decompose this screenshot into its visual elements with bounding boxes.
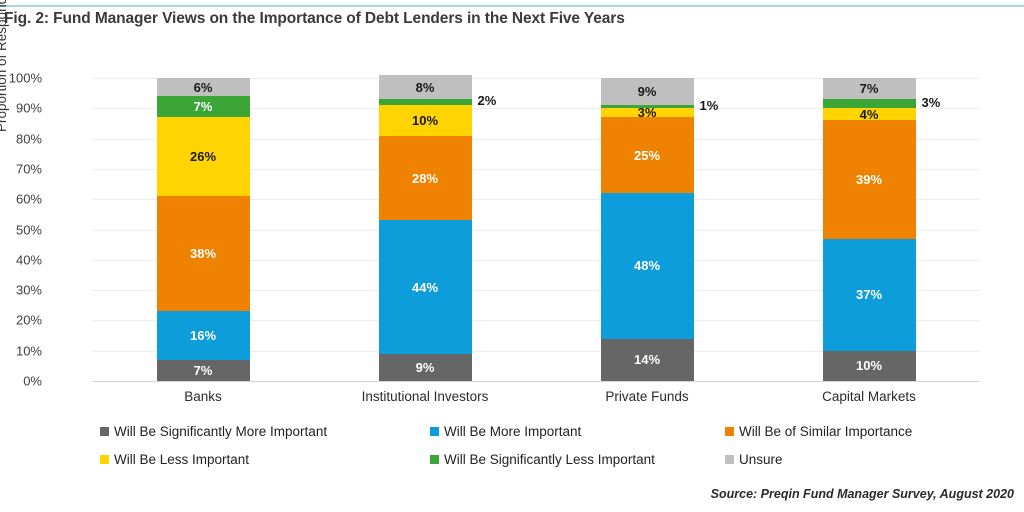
bar-segment[interactable]: 7% (823, 78, 916, 99)
bar-segment-value-label: 10% (856, 358, 882, 373)
y-axis-tick-label: 50% (0, 222, 42, 237)
legend-swatch-icon (725, 455, 734, 464)
bar-segment[interactable]: 44% (379, 220, 472, 353)
y-axis-tick-label: 30% (0, 283, 42, 298)
bar-segment[interactable]: 3% (823, 99, 916, 108)
bar-segment[interactable]: 26% (157, 117, 250, 196)
legend-swatch-icon (430, 455, 439, 464)
legend-item[interactable]: Will Be Significantly More Important (100, 424, 327, 439)
legend-item[interactable]: Will Be Significantly Less Important (430, 452, 655, 467)
bar-segment[interactable]: 7% (157, 96, 250, 117)
bar-segment-value-label: 39% (856, 172, 882, 187)
bar-segment[interactable]: 4% (823, 108, 916, 120)
bar-segment[interactable]: 28% (379, 136, 472, 221)
bar-segment-value-label: 7% (860, 81, 879, 96)
bar-segment[interactable]: 6% (157, 78, 250, 96)
bar-segment[interactable]: 16% (157, 311, 250, 359)
legend-item[interactable]: Will Be of Similar Importance (725, 424, 912, 439)
bar-segment-value-label: 14% (634, 352, 660, 367)
page-title: Fig. 2: Fund Manager Views on the Import… (4, 10, 625, 28)
bar-segment[interactable]: 1% (601, 105, 694, 108)
bar-segment-value-label: 10% (412, 113, 438, 128)
bar-segment[interactable]: 10% (379, 105, 472, 135)
stacked-bar[interactable]: 7%16%38%26%7%6% (157, 78, 250, 381)
legend-item-label: Will Be More Important (444, 424, 581, 439)
gridline (92, 381, 980, 382)
chart-legend: Will Be Significantly More ImportantWill… (100, 424, 1000, 480)
header-rule (0, 5, 1024, 7)
bar-segment-value-label: 8% (416, 80, 435, 95)
legend-item-label: Will Be Less Important (114, 452, 249, 467)
x-axis-category-label: Private Funds (537, 389, 757, 404)
bar-segment[interactable]: 48% (601, 193, 694, 338)
bar-segment[interactable]: 25% (601, 117, 694, 193)
y-axis-tick-label: 60% (0, 192, 42, 207)
bar-segment-value-label: 3% (922, 95, 941, 110)
x-axis-category-label: Banks (93, 389, 313, 404)
legend-swatch-icon (100, 427, 109, 436)
legend-swatch-icon (430, 427, 439, 436)
bar-segment-value-label: 6% (194, 80, 213, 95)
bar-segment[interactable]: 37% (823, 239, 916, 351)
y-axis-tick-label: 10% (0, 343, 42, 358)
bar-segment-value-label: 4% (860, 107, 879, 122)
bar-segment-value-label: 9% (638, 84, 657, 99)
bar-segment-value-label: 28% (412, 171, 438, 186)
stacked-bar[interactable]: 10%37%39%4%3%7% (823, 78, 916, 381)
legend-item-label: Unsure (739, 452, 783, 467)
bar-segment-value-label: 16% (190, 328, 216, 343)
y-axis-tick-label: 40% (0, 252, 42, 267)
bar-segment-value-label: 37% (856, 287, 882, 302)
y-axis-tick-label: 80% (0, 131, 42, 146)
y-axis-tick-label: 70% (0, 161, 42, 176)
legend-item-label: Will Be of Similar Importance (739, 424, 912, 439)
x-axis-category-label: Institutional Investors (315, 389, 535, 404)
bar-segment-value-label: 9% (416, 360, 435, 375)
bar-segment-value-label: 7% (194, 99, 213, 114)
chart-plot-area: 0%10%20%30%40%50%60%70%80%90%100% 7%16%3… (92, 78, 980, 381)
bar-segment[interactable]: 39% (823, 120, 916, 238)
stacked-bar[interactable]: 14%48%25%3%1%9% (601, 78, 694, 381)
y-axis-tick-label: 0% (0, 374, 42, 389)
y-axis-tick-label: 90% (0, 101, 42, 116)
bar-segment-value-label: 2% (478, 93, 497, 108)
legend-swatch-icon (725, 427, 734, 436)
bar-segment-value-label: 25% (634, 148, 660, 163)
legend-item[interactable]: Will Be More Important (430, 424, 581, 439)
bar-segment-value-label: 44% (412, 280, 438, 295)
bar-segment[interactable]: 14% (601, 339, 694, 381)
bar-segment-value-label: 26% (190, 149, 216, 164)
y-axis-tick-label: 20% (0, 313, 42, 328)
bar-segment[interactable]: 9% (379, 354, 472, 381)
legend-item[interactable]: Will Be Less Important (100, 452, 249, 467)
bar-segment[interactable]: 38% (157, 196, 250, 311)
bar-segment[interactable]: 2% (379, 99, 472, 105)
bar-segment[interactable]: 7% (157, 360, 250, 381)
y-axis-tick-label: 100% (0, 71, 42, 86)
legend-item[interactable]: Unsure (725, 452, 783, 467)
legend-item-label: Will Be Significantly More Important (114, 424, 327, 439)
legend-item-label: Will Be Significantly Less Important (444, 452, 655, 467)
stacked-bar[interactable]: 9%44%28%10%2%8% (379, 78, 472, 381)
bar-segment[interactable]: 10% (823, 351, 916, 381)
legend-swatch-icon (100, 455, 109, 464)
source-note: Source: Preqin Fund Manager Survey, Augu… (711, 487, 1014, 501)
bar-segment-value-label: 38% (190, 246, 216, 261)
bar-segment[interactable]: 8% (379, 75, 472, 99)
bar-segment[interactable]: 3% (601, 108, 694, 117)
bar-segment-value-label: 7% (194, 363, 213, 378)
x-axis-category-label: Capital Markets (759, 389, 979, 404)
bar-segment-value-label: 1% (700, 98, 719, 113)
bar-segment[interactable]: 9% (601, 78, 694, 105)
bar-segment-value-label: 48% (634, 258, 660, 273)
